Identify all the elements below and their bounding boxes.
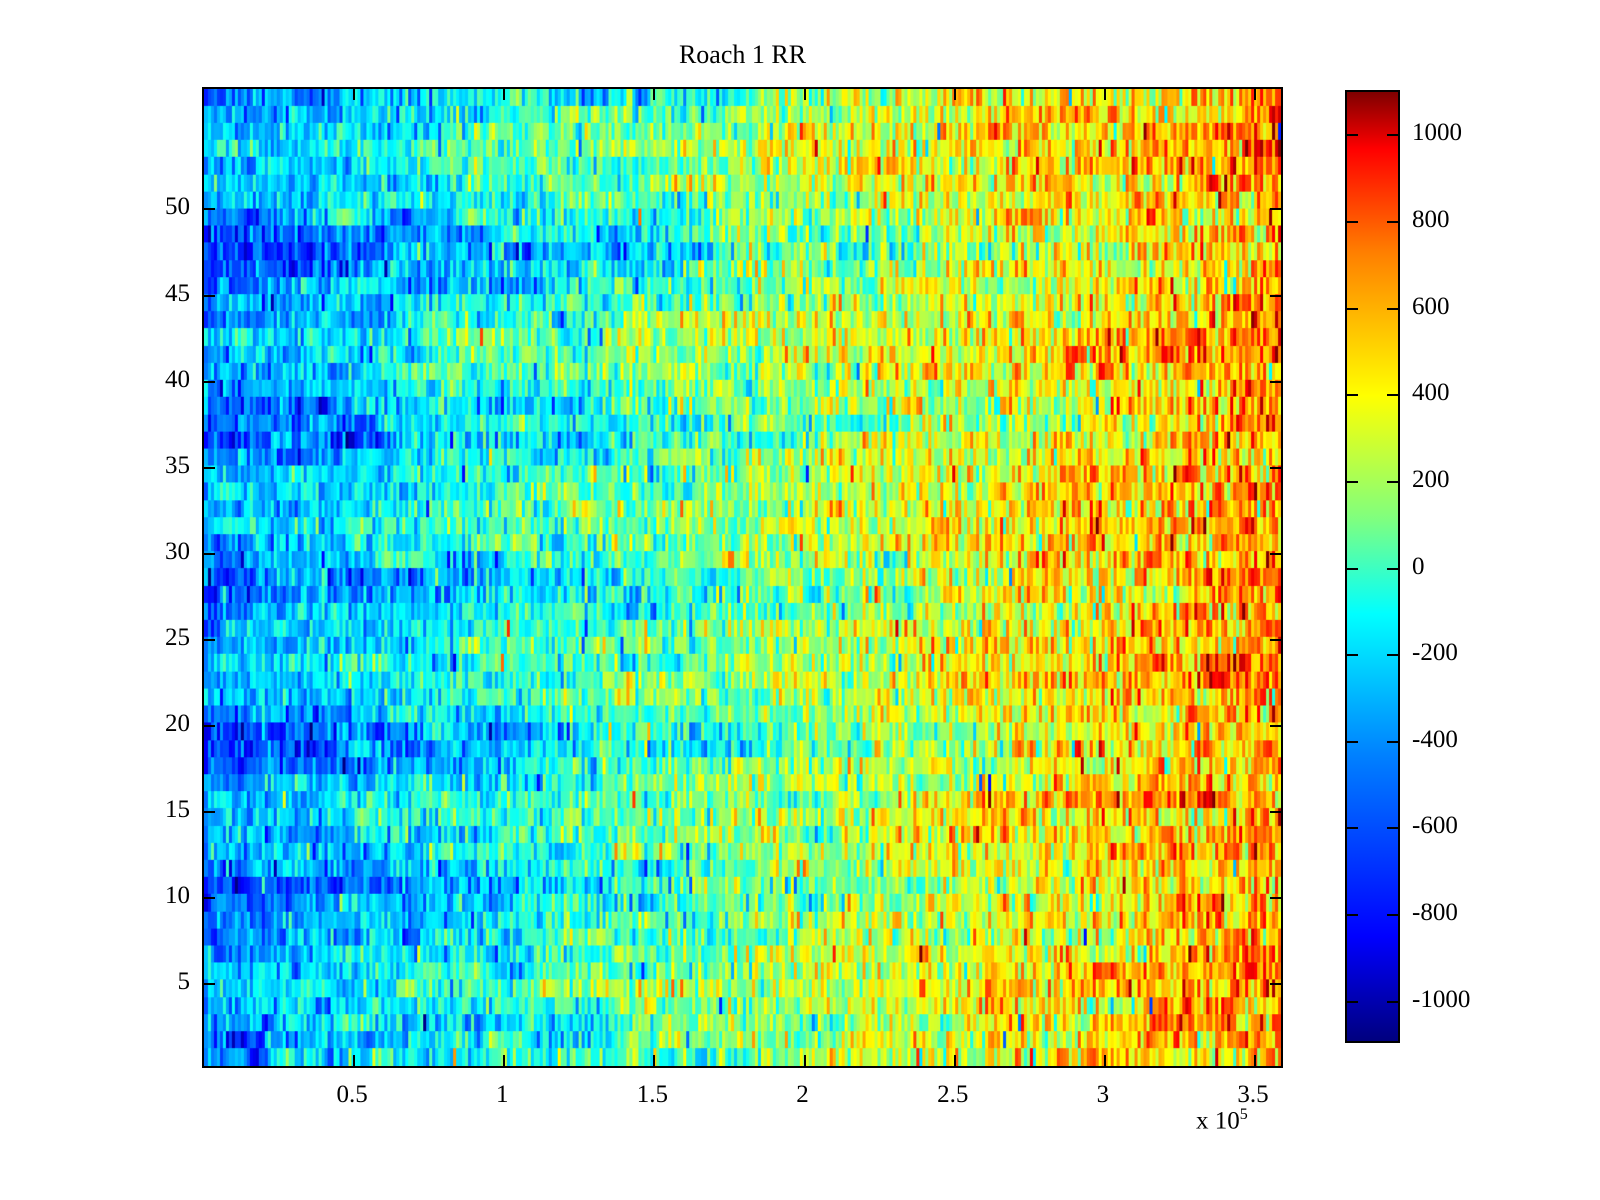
y-tick-label: 20 xyxy=(120,711,190,736)
colorbar-tick-label: -200 xyxy=(1412,640,1458,665)
x-tick-mark-top xyxy=(1254,89,1256,100)
colorbar-tick-mark-right xyxy=(1387,741,1398,743)
heatmap-image xyxy=(204,89,1281,1066)
x-tick-label: 1 xyxy=(457,1082,547,1107)
y-tick-mark xyxy=(204,208,215,210)
y-tick-label: 30 xyxy=(120,539,190,564)
colorbar-tick-mark xyxy=(1347,741,1358,743)
colorbar-tick-label: 200 xyxy=(1412,467,1450,492)
x-tick-mark-top xyxy=(353,89,355,100)
colorbar-tick-label: -800 xyxy=(1412,900,1458,925)
x-tick-mark xyxy=(1104,1055,1106,1066)
x-tick-mark xyxy=(503,1055,505,1066)
y-tick-label: 50 xyxy=(120,194,190,219)
x-tick-label: 2.5 xyxy=(908,1082,998,1107)
y-tick-label: 35 xyxy=(120,453,190,478)
y-tick-label: 15 xyxy=(120,797,190,822)
x-tick-mark-top xyxy=(653,89,655,100)
y-tick-mark-right xyxy=(1270,208,1281,210)
colorbar-tick-mark-right xyxy=(1387,134,1398,136)
y-tick-label: 40 xyxy=(120,367,190,392)
colorbar-tick-mark xyxy=(1347,481,1358,483)
y-tick-label: 45 xyxy=(120,281,190,306)
y-tick-mark xyxy=(204,983,215,985)
x-tick-mark xyxy=(1254,1055,1256,1066)
y-tick-mark-right xyxy=(1270,553,1281,555)
colorbar-tick-mark-right xyxy=(1387,654,1398,656)
x-exponent-power: 5 xyxy=(1240,1106,1248,1123)
y-tick-mark xyxy=(204,467,215,469)
page-title: Roach 1 RR xyxy=(202,40,1283,70)
colorbar-tick-mark-right xyxy=(1387,1001,1398,1003)
y-tick-mark-right xyxy=(1270,467,1281,469)
y-tick-mark-right xyxy=(1270,381,1281,383)
colorbar-tick-mark xyxy=(1347,221,1358,223)
x-tick-mark xyxy=(353,1055,355,1066)
colorbar-tick-mark xyxy=(1347,827,1358,829)
colorbar-tick-mark-right xyxy=(1387,394,1398,396)
x-tick-label: 3.5 xyxy=(1208,1082,1298,1107)
colorbar-tick-mark-right xyxy=(1387,827,1398,829)
x-tick-mark-top xyxy=(804,89,806,100)
y-tick-mark-right xyxy=(1270,897,1281,899)
colorbar-tick-label: 800 xyxy=(1412,207,1450,232)
x-tick-mark-top xyxy=(954,89,956,100)
colorbar-tick-mark xyxy=(1347,1001,1358,1003)
y-tick-mark xyxy=(204,639,215,641)
x-tick-mark xyxy=(653,1055,655,1066)
y-tick-label: 5 xyxy=(120,969,190,994)
colorbar-tick-mark-right xyxy=(1387,568,1398,570)
x-tick-mark xyxy=(804,1055,806,1066)
x-tick-mark-top xyxy=(1104,89,1106,100)
y-tick-mark xyxy=(204,295,215,297)
x-tick-mark xyxy=(954,1055,956,1066)
colorbar-tick-mark xyxy=(1347,568,1358,570)
colorbar-tick-label: 0 xyxy=(1412,554,1425,579)
colorbar-tick-mark-right xyxy=(1387,914,1398,916)
colorbar-tick-mark-right xyxy=(1387,308,1398,310)
heatmap-axes[interactable] xyxy=(202,87,1283,1068)
y-tick-label: 10 xyxy=(120,883,190,908)
x-tick-mark-top xyxy=(503,89,505,100)
y-tick-mark xyxy=(204,381,215,383)
y-tick-mark-right xyxy=(1270,639,1281,641)
colorbar-tick-mark xyxy=(1347,654,1358,656)
colorbar-tick-label: 400 xyxy=(1412,380,1450,405)
y-tick-mark-right xyxy=(1270,295,1281,297)
x-tick-label: 1.5 xyxy=(607,1082,697,1107)
x-exponent-mantissa: x 10 xyxy=(1196,1107,1240,1134)
colorbar-tick-mark xyxy=(1347,134,1358,136)
y-tick-mark xyxy=(204,811,215,813)
y-tick-mark-right xyxy=(1270,983,1281,985)
x-tick-label: 2 xyxy=(758,1082,848,1107)
figure-canvas: Roach 1 RR 51015202530354045500.511.522.… xyxy=(0,0,1600,1200)
colorbar-tick-label: 1000 xyxy=(1412,120,1462,145)
y-tick-label: 25 xyxy=(120,625,190,650)
y-tick-mark xyxy=(204,725,215,727)
colorbar-tick-label: -1000 xyxy=(1412,987,1470,1012)
colorbar-tick-mark xyxy=(1347,394,1358,396)
y-tick-mark-right xyxy=(1270,725,1281,727)
y-tick-mark xyxy=(204,897,215,899)
colorbar-tick-mark-right xyxy=(1387,221,1398,223)
colorbar-tick-mark xyxy=(1347,308,1358,310)
x-tick-label: 0.5 xyxy=(307,1082,397,1107)
y-tick-mark xyxy=(204,553,215,555)
y-tick-mark-right xyxy=(1270,811,1281,813)
x-tick-label: 3 xyxy=(1058,1082,1148,1107)
colorbar-tick-label: -600 xyxy=(1412,813,1458,838)
colorbar-tick-label: -400 xyxy=(1412,727,1458,752)
colorbar[interactable] xyxy=(1345,90,1400,1043)
colorbar-tick-label: 600 xyxy=(1412,294,1450,319)
x-axis-exponent-label: x 105 xyxy=(1196,1106,1248,1135)
colorbar-tick-mark-right xyxy=(1387,481,1398,483)
colorbar-tick-mark xyxy=(1347,914,1358,916)
